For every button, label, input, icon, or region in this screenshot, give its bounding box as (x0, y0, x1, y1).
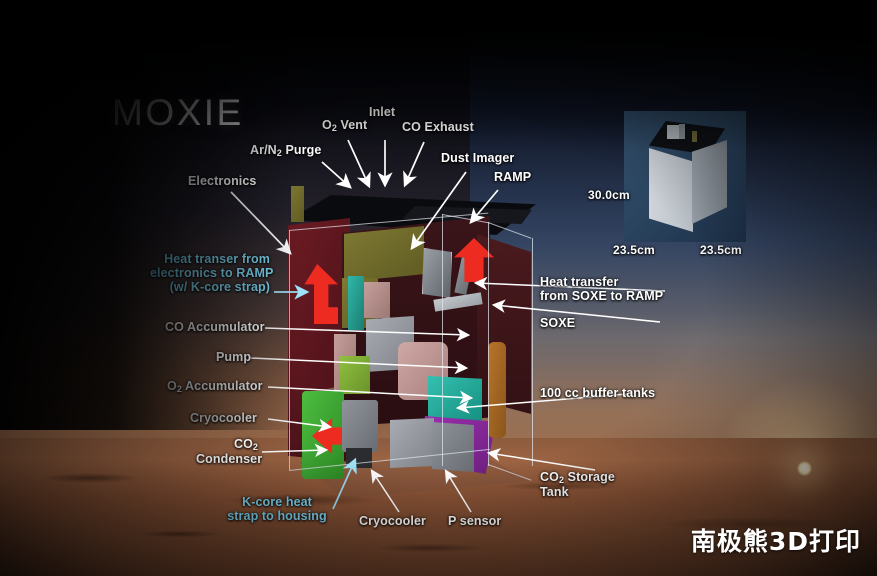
o2-accumulator-cylinder (348, 276, 364, 330)
label-dust-imager: Dust Imager (441, 151, 514, 165)
label-soxe: SOXE (540, 316, 575, 330)
label-electronics: Electronics (188, 174, 257, 188)
label-pump: Pump (216, 350, 251, 364)
inlet-stack (291, 186, 304, 222)
label-ar-n2-purge: Ar/N2 Purge (250, 143, 321, 158)
label-co-exhaust: CO Exhaust (402, 120, 474, 134)
page-title: MOXIE (112, 92, 244, 134)
label-heat-transfer-electronics: Heat transer fromelectronics to RAMP(w/ … (150, 252, 270, 294)
soxe-panel (422, 248, 452, 298)
cryocooler-lower-base (346, 448, 372, 468)
p-sensor-block-a (390, 418, 434, 468)
label-co-accumulator: CO Accumulator (165, 320, 265, 334)
label-p-sensor: P sensor (448, 514, 501, 528)
label-co2-storage-tank: CO2 StorageTank (540, 470, 615, 499)
label-o2-vent: O2 Vent (322, 118, 367, 133)
moxie-diagram-image: 30.0cm 23.5cm 23.5cm (0, 0, 877, 576)
buffer-tank-lower (428, 376, 482, 422)
watermark: 南极熊3D打印 (691, 522, 861, 558)
sun-icon (797, 461, 812, 476)
inset-box-front-face (649, 148, 693, 232)
wire-mid-edge (442, 214, 443, 466)
inset-box-antenna-nub (692, 131, 697, 142)
cryocooler-lower-body (342, 400, 378, 452)
co-accumulator-block (364, 282, 390, 318)
label-buffer-tanks: 100 cc buffer tanks (540, 386, 655, 400)
moxie-cutaway-model (282, 186, 550, 506)
label-k-core-heat-strap: K-core heatstrap to housing (222, 495, 332, 523)
label-co2-condenser: CO2Condenser (196, 437, 258, 466)
cryocooler-green-block (340, 356, 370, 394)
dimension-depth-label: 23.5cm (700, 243, 742, 257)
label-cryocooler-lower: Cryocooler (359, 514, 426, 528)
co2-feed-cylinder (488, 342, 506, 438)
label-o2-accumulator: O2 Accumulator (167, 379, 263, 394)
dust-imager-block (344, 226, 424, 282)
label-cryocooler-upper: Cryocooler (190, 411, 257, 425)
wire-back-right-edge (488, 222, 489, 466)
wire-front-left-edge (289, 230, 290, 470)
p-sensor-block-b (432, 422, 474, 472)
dimension-height-label: 30.0cm (588, 188, 630, 202)
wire-outer-right-edge (532, 238, 533, 466)
inset-box-vent-nub (679, 124, 685, 139)
inset-box-inlet-nub (667, 125, 679, 139)
dimension-width-label: 23.5cm (613, 243, 655, 257)
label-inlet: Inlet (369, 105, 395, 119)
label-ramp: RAMP (494, 170, 531, 184)
label-heat-transfer-soxe: Heat transferfrom SOXE to RAMP (540, 275, 663, 303)
